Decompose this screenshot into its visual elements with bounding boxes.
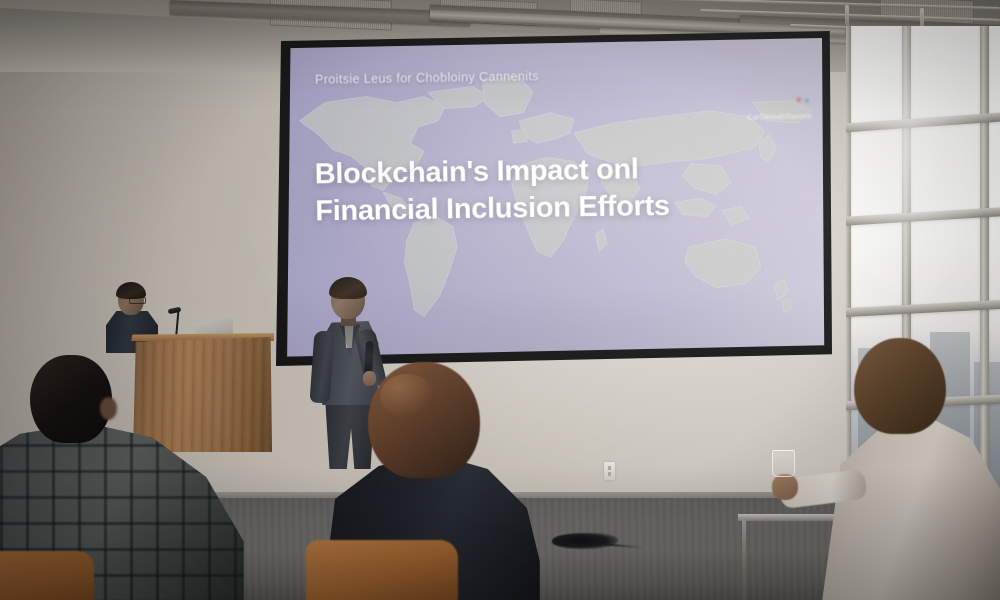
audience-right-hand (772, 474, 798, 500)
glasses-icon (129, 297, 146, 304)
audience-right-hair (854, 338, 946, 434)
presentation-scene: Proitsie Leus for Chobloiny Cannenits Bl… (0, 0, 1000, 600)
chair (306, 540, 458, 600)
presenter-hair (329, 277, 367, 299)
audience-center-hair-highlight (380, 374, 434, 418)
slide-title: Blockchain's Impact onl Financial Inclus… (314, 150, 749, 230)
chair (0, 551, 94, 600)
slide-logo-text: CarOkmafi/llamme (747, 111, 812, 121)
audience-left-ear (100, 397, 117, 420)
logo-mark-icon (795, 94, 812, 104)
audience-member-plaid-shirt (0, 355, 274, 600)
audience-left-head (30, 355, 112, 443)
audience-member-bob-haircut (336, 362, 552, 600)
audience-right-body (822, 416, 1000, 600)
slide-logo: CarOkmafi/llamme (746, 94, 812, 124)
wall-outlet (604, 462, 615, 480)
slide-title-line-2: Financial Inclusion Efforts (315, 186, 749, 229)
side-table-leg (742, 520, 746, 600)
drinking-glass (772, 450, 795, 477)
audience-member-light-shirt (830, 338, 1000, 600)
